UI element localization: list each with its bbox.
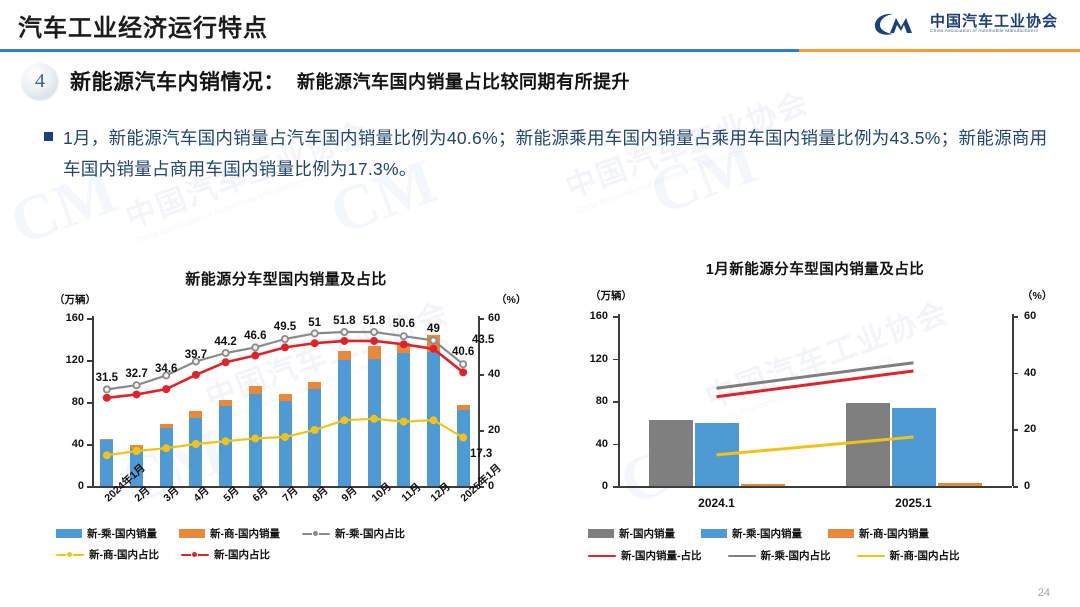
legend-swatch bbox=[56, 529, 82, 538]
annotation-commercial-share: 17.3 bbox=[470, 448, 492, 460]
legend-item-4: 新-乘-国内占比 bbox=[728, 548, 831, 563]
slide-header: 汽车工业经济运行特点 中国汽车工业协会 China Association of… bbox=[0, 0, 1080, 52]
legend-label: 新-乘-国内占比 bbox=[335, 526, 405, 541]
legend-item-0: 新-乘-国内销量 bbox=[56, 526, 157, 541]
legend-dot bbox=[66, 551, 73, 558]
legend-swatch bbox=[828, 529, 854, 538]
x-tick-label-0: 2024.1 bbox=[698, 496, 735, 510]
section-title-sub: 新能源汽车国内销量占比较同期有所提升 bbox=[297, 68, 630, 94]
legend-item-3: 新-国内销量-占比 bbox=[588, 548, 702, 563]
bullet-item: 1月，新能源汽车国内销量占汽车国内销量比例为40.6%；新能源乘用车国内销量占乘… bbox=[44, 123, 1054, 184]
bullet-square-icon bbox=[44, 132, 53, 141]
bullet-text: 1月，新能源汽车国内销量占汽车国内销量比例为40.6%；新能源乘用车国内销量占乘… bbox=[63, 123, 1054, 184]
legend-line-marker bbox=[857, 551, 885, 561]
legend-item-4: 新-国内占比 bbox=[181, 547, 270, 562]
legend-item-5: 新-商-国内占比 bbox=[857, 548, 960, 563]
legend-line bbox=[588, 555, 616, 557]
header-divider bbox=[0, 49, 1080, 52]
legend-item-2: 新-乘-国内占比 bbox=[302, 526, 405, 541]
legend-item-2: 新-商-国内销量 bbox=[828, 526, 929, 541]
legend-item-0: 新-国内销量 bbox=[588, 526, 675, 541]
value-label-new-share-0: 31.5 bbox=[96, 372, 118, 384]
legend-label: 新-国内销量-占比 bbox=[621, 548, 702, 563]
value-label-new-share-1: 32.7 bbox=[125, 368, 147, 380]
caam-logo: 中国汽车工业协会 China Association of Automobile… bbox=[873, 11, 1058, 37]
page-number: 24 bbox=[1038, 587, 1050, 599]
legend-item-3: 新-商-国内占比 bbox=[56, 547, 159, 562]
chart-left: 新能源分车型国内销量及占比 （万辆） （%） 04080120160020406… bbox=[26, 268, 546, 593]
legend-label: 新-乘-国内销量 bbox=[87, 526, 157, 541]
legend-label: 新-商-国内占比 bbox=[89, 547, 159, 562]
caam-logo-icon bbox=[873, 11, 921, 37]
series-line bbox=[560, 258, 1070, 538]
legend-swatch bbox=[179, 529, 205, 538]
value-label-new-share-10: 50.6 bbox=[393, 318, 415, 330]
legend-label: 新-国内销量 bbox=[619, 526, 675, 541]
legend-line-marker bbox=[588, 551, 616, 561]
x-tick-label-1: 2025.1 bbox=[895, 496, 932, 510]
chart-right: 1月新能源分车型国内销量及占比 （万辆） （%） 040801201600204… bbox=[560, 258, 1070, 593]
value-label-new-share-11: 49 bbox=[427, 323, 440, 335]
legend-item-1: 新-乘-国内销量 bbox=[701, 526, 802, 541]
legend-label: 新-商-国内占比 bbox=[890, 548, 960, 563]
annotation-passenger-share: 43.5 bbox=[472, 334, 494, 346]
value-label-new-share-6: 49.5 bbox=[274, 321, 296, 333]
value-label-new-share-3: 39.7 bbox=[185, 349, 207, 361]
legend-dot bbox=[312, 530, 319, 537]
value-label-new-share-12: 40.6 bbox=[452, 346, 474, 358]
legend-label: 新-商-国内销量 bbox=[859, 526, 929, 541]
logo-title-cn: 中国汽车工业协会 bbox=[930, 14, 1058, 30]
legend-line bbox=[728, 555, 756, 557]
legend-dot bbox=[191, 551, 198, 558]
legend-line-marker bbox=[181, 550, 209, 560]
legend-label: 新-乘-国内销量 bbox=[732, 526, 802, 541]
legend-swatch bbox=[701, 529, 727, 538]
legend-swatch bbox=[588, 529, 614, 538]
legend-label: 新-乘-国内占比 bbox=[761, 548, 831, 563]
section-heading: 4 新能源汽车内销情况： 新能源汽车国内销量占比较同期有所提升 bbox=[22, 63, 630, 99]
value-label-new-share-5: 46.6 bbox=[244, 330, 266, 342]
value-label-new-share-2: 34.6 bbox=[155, 363, 177, 375]
value-label-new-share-4: 44.2 bbox=[214, 336, 236, 348]
legend-line bbox=[857, 555, 885, 557]
logo-title-en: China Association of Automobile Manufact… bbox=[930, 29, 1052, 34]
value-label-new-share-9: 51.8 bbox=[363, 315, 385, 327]
section-number-badge: 4 bbox=[22, 63, 58, 99]
legend-item-1: 新-商-国内销量 bbox=[179, 526, 280, 541]
value-label-new-share-7: 51 bbox=[308, 317, 321, 329]
value-label-new-share-8: 51.8 bbox=[333, 315, 355, 327]
section-title-main: 新能源汽车内销情况： bbox=[70, 66, 285, 96]
legend-line-marker bbox=[56, 550, 84, 560]
legend-line-marker bbox=[302, 529, 330, 539]
legend-label: 新-商-国内销量 bbox=[210, 526, 280, 541]
legend-label: 新-国内占比 bbox=[214, 547, 270, 562]
page-title: 汽车工业经济运行特点 bbox=[18, 8, 268, 43]
legend-line-marker bbox=[728, 551, 756, 561]
